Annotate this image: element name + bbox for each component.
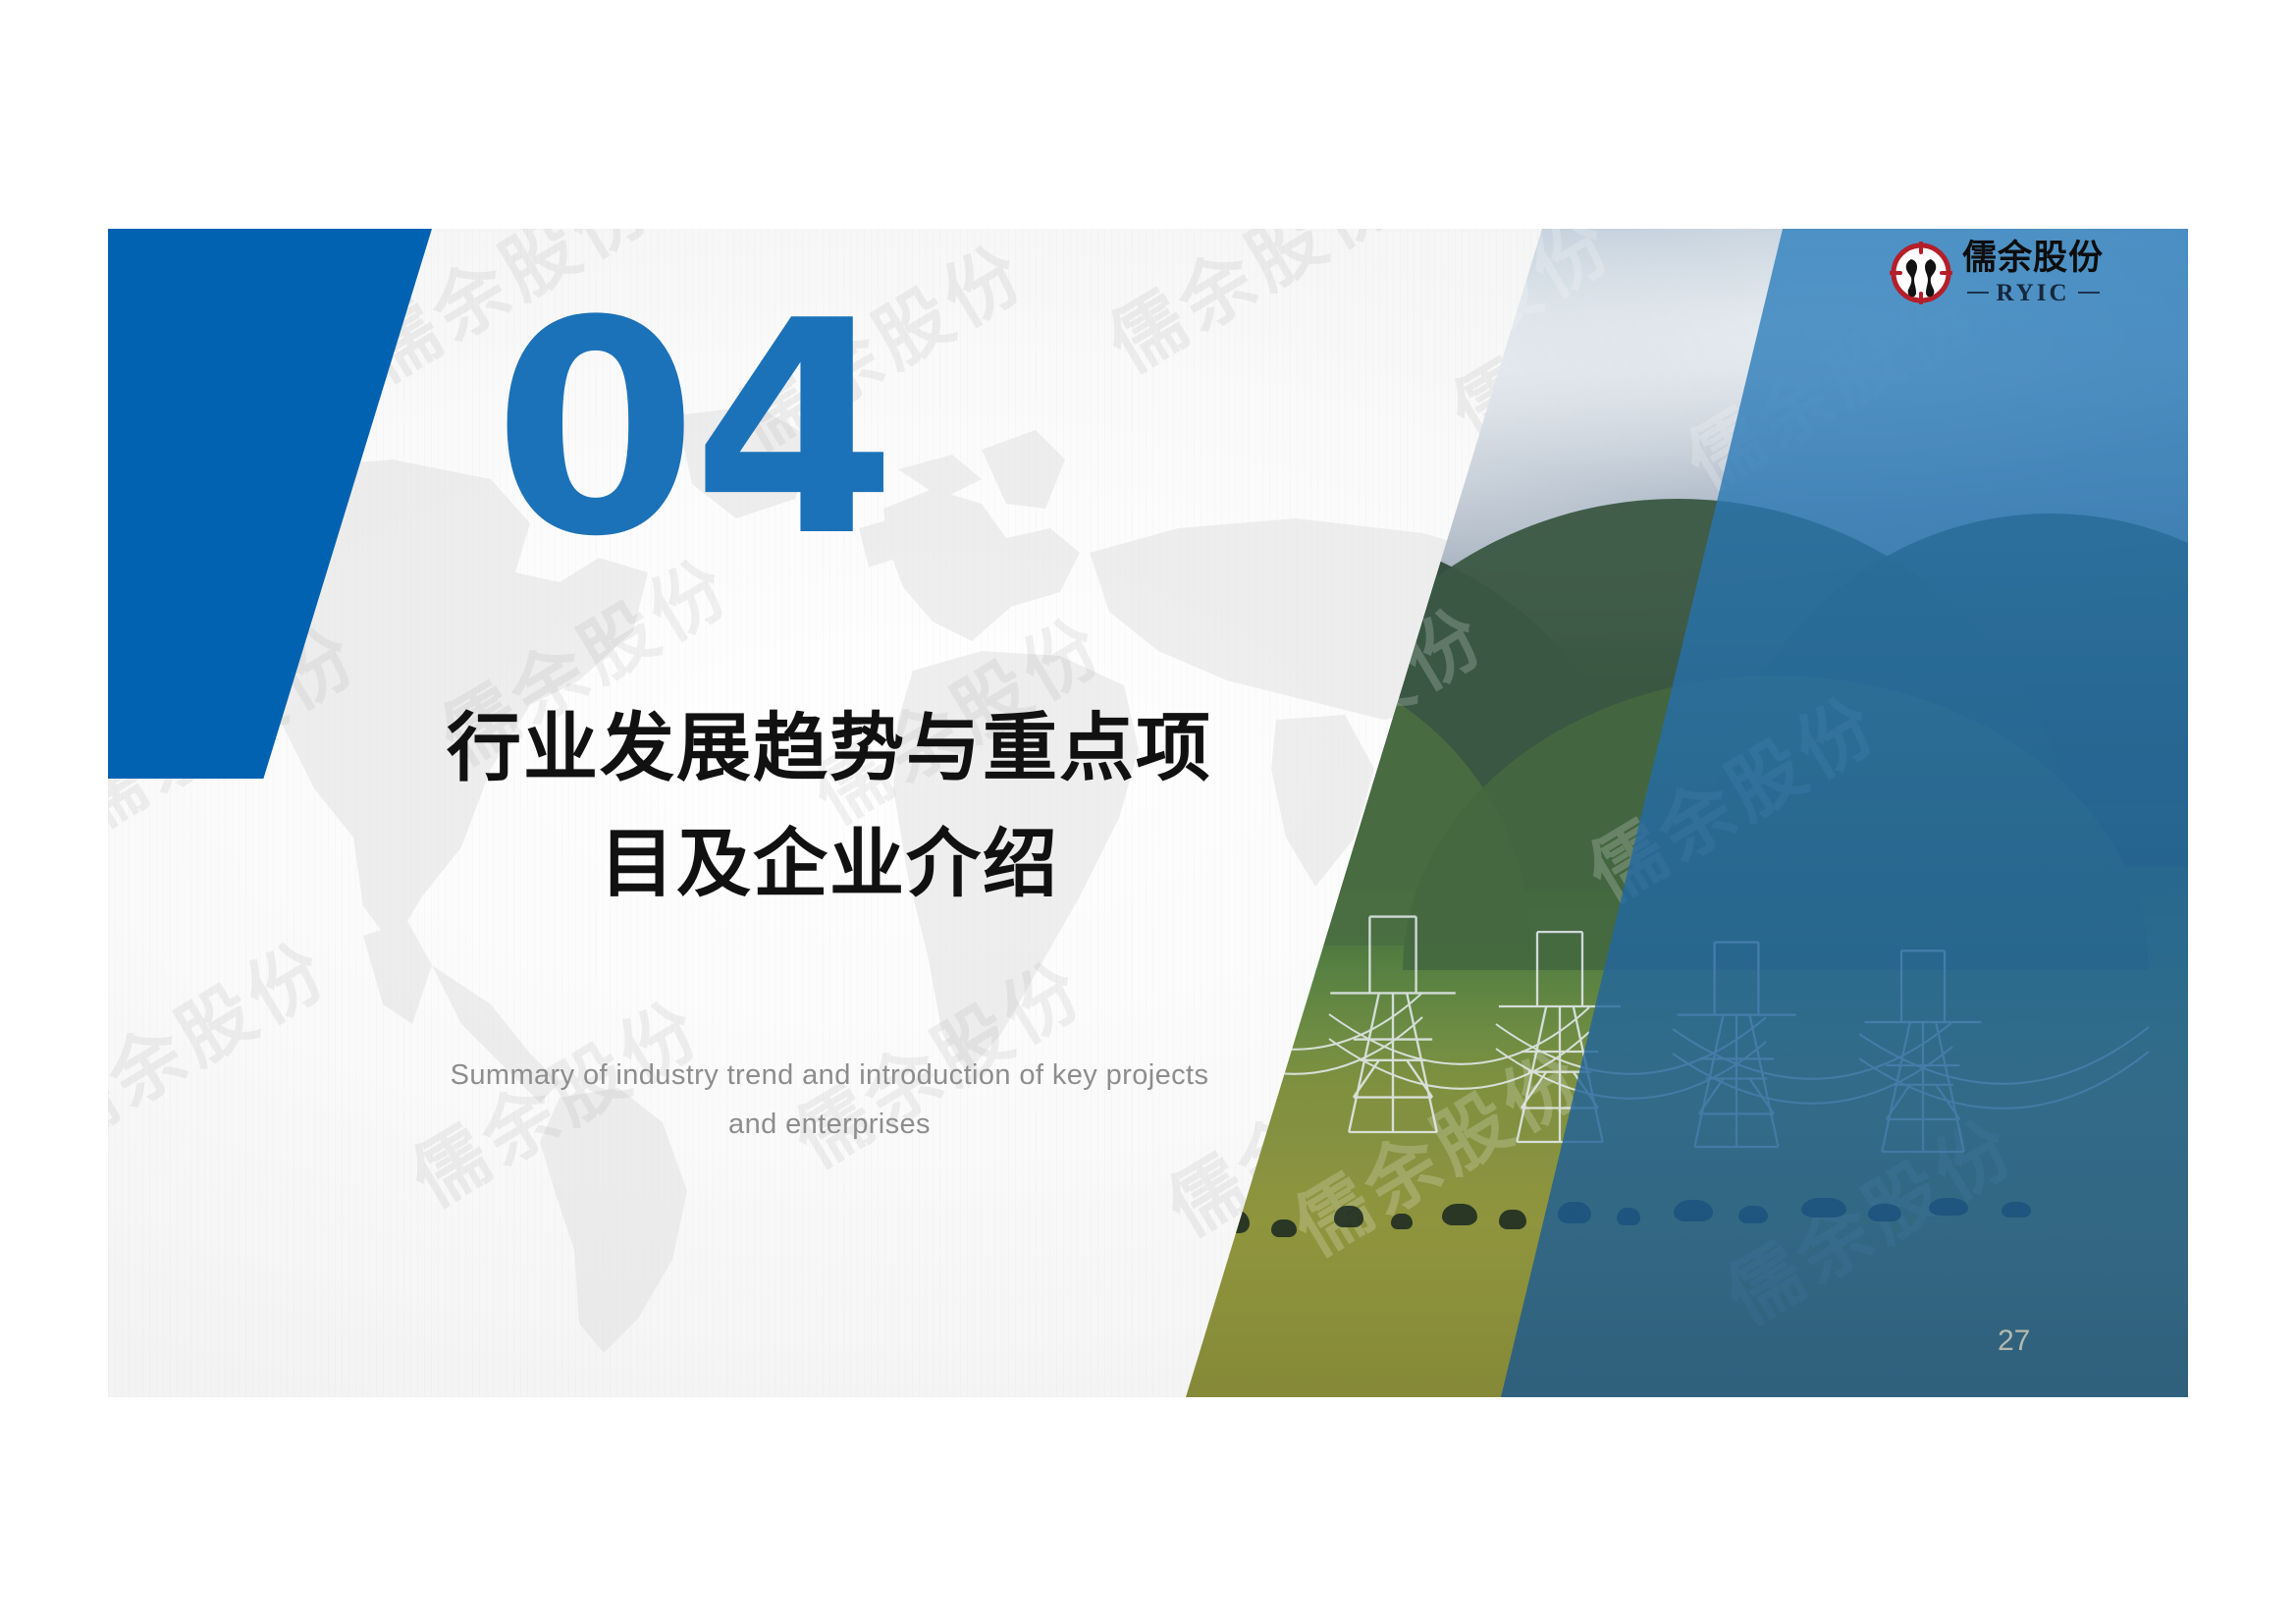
logo-company-name-en-row: RYIC [1967, 281, 2100, 305]
page-subtitle: Summary of industry trend and introducti… [265, 1052, 1394, 1150]
animal [1442, 1204, 1477, 1225]
subtitle-line-1: Summary of industry trend and introducti… [265, 1052, 1394, 1101]
logo-rule-right [2078, 292, 2100, 294]
animal [1391, 1214, 1413, 1229]
title-line-1: 行业发展趋势与重点项 [245, 690, 1414, 806]
animal [1334, 1206, 1363, 1227]
logo-company-name-en: RYIC [1997, 281, 2070, 305]
page-number: 27 [1998, 1325, 2030, 1358]
page-canvas: 儒余股份 儒余股份 儒余股份 儒余股份 儒余股份 儒余股份 儒余股份 儒余股份 … [0, 0, 2296, 1624]
logo-company-name-cn: 儒余股份 [1962, 242, 2104, 276]
subtitle-line-2: and enterprises [265, 1101, 1394, 1150]
title-line-2: 目及企业介绍 [245, 806, 1414, 922]
animal [1271, 1219, 1297, 1237]
page-title: 行业发展趋势与重点项 目及企业介绍 [245, 690, 1414, 922]
logo-wordmark: 儒余股份 RYIC [1962, 242, 2104, 305]
animal [1499, 1210, 1526, 1229]
two-figures-circle-emblem-icon [1890, 242, 1952, 304]
slide: 儒余股份 儒余股份 儒余股份 儒余股份 儒余股份 儒余股份 儒余股份 儒余股份 … [108, 229, 2188, 1397]
company-logo: 儒余股份 RYIC [1890, 229, 2145, 317]
logo-rule-left [1967, 292, 1989, 294]
section-number: 04 [388, 283, 996, 577]
